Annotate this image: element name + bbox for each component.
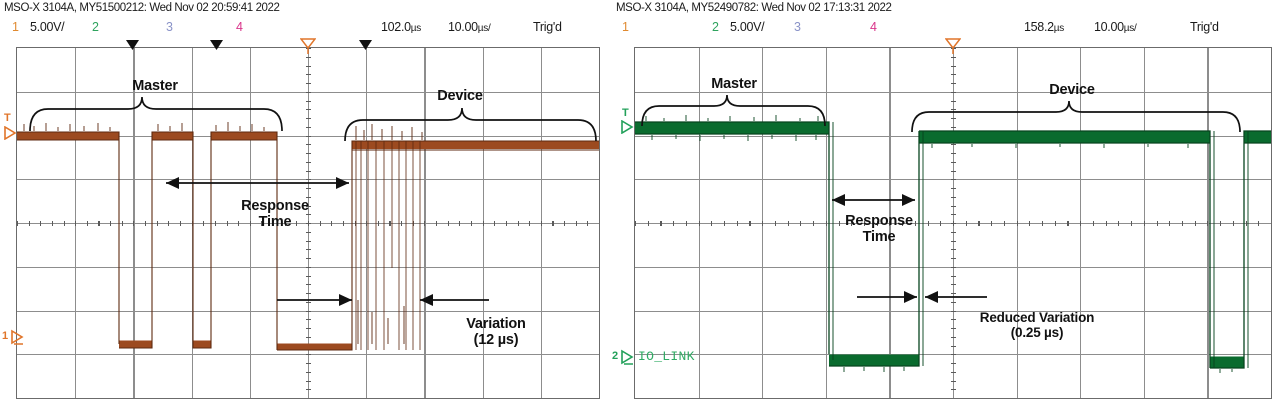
channel-ground-label-right: 2 [612, 350, 618, 362]
io-link-signal-label: IO_LINK [638, 349, 695, 364]
io-link-edge-variation [833, 122, 1248, 368]
annotation-layer-left [30, 97, 596, 306]
ground-arrow-icon-right [621, 348, 637, 366]
trigger-marker-label-right: T [622, 107, 629, 119]
channel-1-ground-marker[interactable]: 1 [2, 330, 8, 342]
top-marker-triangle-icon[interactable] [359, 40, 373, 51]
trigger-level-arrow-icon-right [621, 120, 635, 134]
trigger-marker-label: T [4, 112, 11, 124]
device-brace-right [912, 101, 1240, 132]
channel-2-ground-marker[interactable]: 2 [612, 350, 618, 362]
channel-1-trace-low [119, 344, 352, 347]
oscilloscope-comparison-figure: MSO-X 3104A, MY51500212: Wed Nov 02 20:5… [0, 0, 1280, 407]
waveform-canvas-right [612, 0, 1280, 407]
top-marker-triangle-icon[interactable] [126, 40, 140, 51]
waveform-canvas-left [0, 0, 620, 407]
channel-ground-label: 1 [2, 330, 8, 342]
scope-panel-right: MSO-X 3104A, MY52490782: Wed Nov 02 17:1… [612, 0, 1280, 407]
master-brace [30, 97, 282, 131]
io-link-trace-low [829, 360, 1244, 362]
ground-arrow-icon-left [11, 328, 27, 346]
io-link-trace [635, 128, 1271, 137]
trigger-level-marker-right[interactable]: T [622, 107, 629, 119]
trigger-level-arrow-icon-left [4, 126, 18, 140]
scope-panel-left: MSO-X 3104A, MY51500212: Wed Nov 02 20:5… [0, 0, 620, 407]
trigger-position-marker-icon[interactable] [945, 38, 961, 54]
device-brace [345, 108, 596, 141]
top-marker-triangle-icon[interactable] [210, 40, 224, 51]
io-link-noise [646, 115, 1232, 373]
trigger-position-marker-icon[interactable] [300, 38, 316, 54]
trigger-level-marker-left[interactable]: T [4, 112, 11, 124]
channel-1-low-spikes [358, 300, 404, 344]
